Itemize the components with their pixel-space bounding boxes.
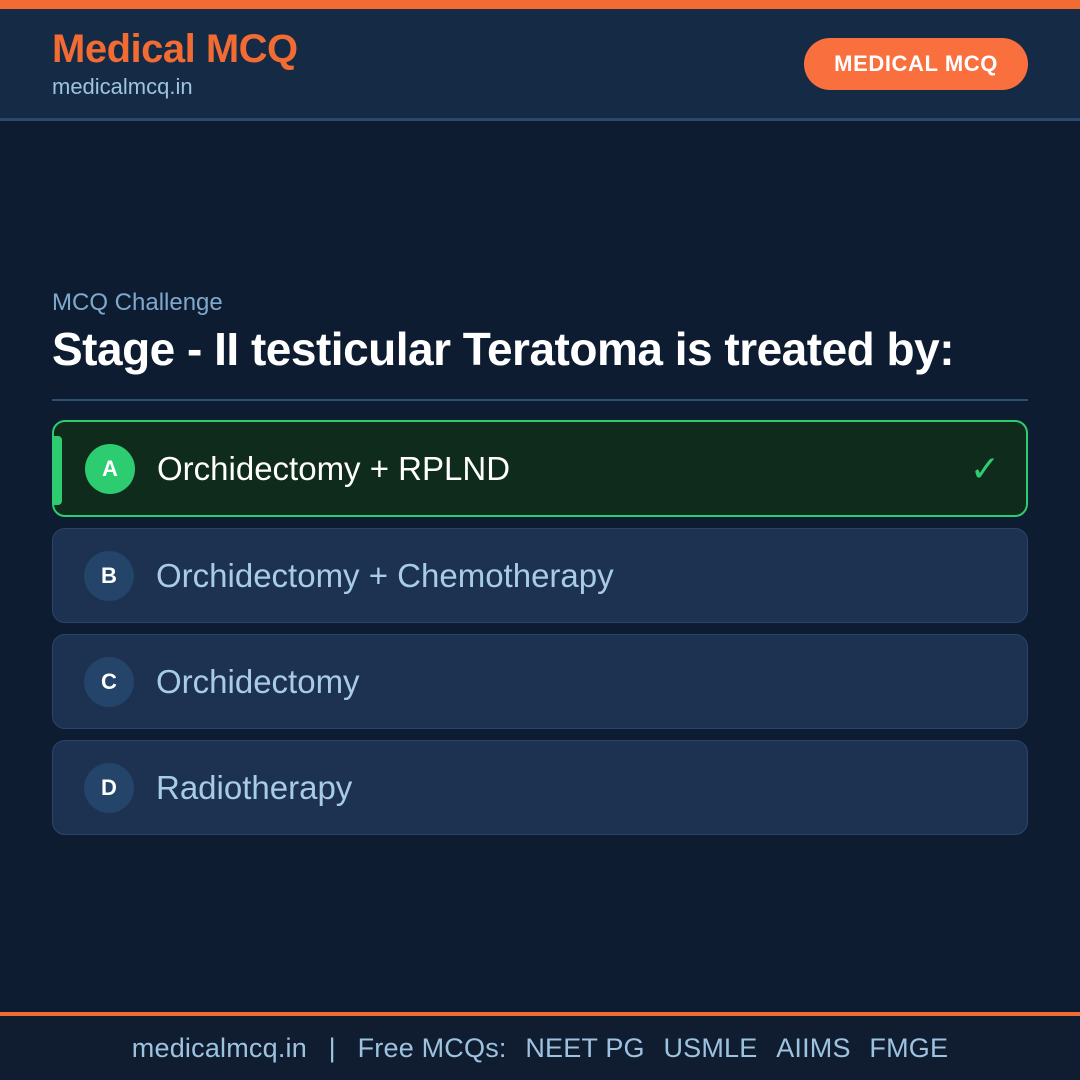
option-c[interactable]: COrchidectomy: [52, 634, 1028, 729]
top-spacer: [52, 121, 1028, 289]
question-area: MCQ Challenge Stage - II testicular Tera…: [0, 121, 1080, 1012]
option-d[interactable]: DRadiotherapy: [52, 740, 1028, 835]
mcq-card: Medical MCQ medicalmcq.in MEDICAL MCQ MC…: [0, 0, 1080, 1080]
footer-separator: |: [315, 1033, 350, 1063]
footer-exam-fmge[interactable]: FMGE: [858, 1033, 948, 1063]
options-list: AOrchidectomy + RPLND✓BOrchidectomy + Ch…: [52, 420, 1028, 835]
correct-accent-bar: [54, 436, 62, 505]
option-label: Orchidectomy + RPLND: [157, 449, 960, 489]
option-letter-badge: A: [85, 444, 135, 494]
brand-block: Medical MCQ medicalmcq.in: [52, 28, 298, 99]
footer-exam-usmle[interactable]: USMLE: [652, 1033, 757, 1063]
option-label: Radiotherapy: [156, 768, 961, 808]
option-label: Orchidectomy: [156, 662, 961, 702]
option-letter-badge: C: [84, 657, 134, 707]
kicker-label: MCQ Challenge: [52, 289, 1028, 318]
divider: [52, 399, 1028, 401]
option-letter-badge: B: [84, 551, 134, 601]
option-b[interactable]: BOrchidectomy + Chemotherapy: [52, 528, 1028, 623]
brand-title: Medical MCQ: [52, 28, 298, 70]
header-bar: Medical MCQ medicalmcq.in MEDICAL MCQ: [0, 9, 1080, 121]
footer-label: Free MCQs:: [358, 1033, 507, 1063]
footer-text: medicalmcq.in | Free MCQs: NEET PG USMLE…: [132, 1033, 948, 1064]
top-accent-bar: [0, 0, 1080, 9]
footer-exam-neet-pg[interactable]: NEET PG: [514, 1033, 644, 1063]
option-letter-badge: D: [84, 763, 134, 813]
footer-exam-aiims[interactable]: AIIMS: [765, 1033, 851, 1063]
footer-site[interactable]: medicalmcq.in: [132, 1033, 307, 1063]
footer-bar: medicalmcq.in | Free MCQs: NEET PG USMLE…: [0, 1012, 1080, 1080]
check-icon: ✓: [960, 448, 1000, 490]
page-title: Stage - II testicular Teratoma is treate…: [52, 324, 982, 376]
option-a[interactable]: AOrchidectomy + RPLND✓: [52, 420, 1028, 517]
brand-subtitle: medicalmcq.in: [52, 75, 298, 99]
option-label: Orchidectomy + Chemotherapy: [156, 556, 961, 596]
brand-badge: MEDICAL MCQ: [804, 38, 1028, 90]
